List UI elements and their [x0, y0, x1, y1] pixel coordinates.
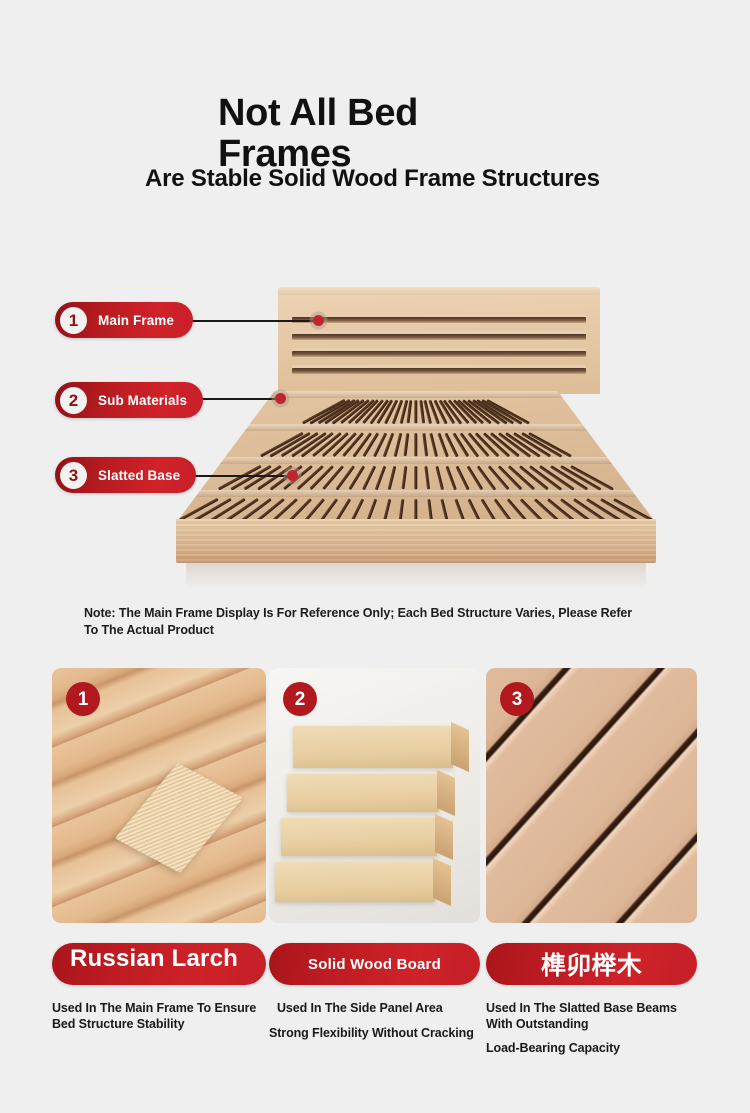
- deck-cross-beam: [176, 457, 656, 464]
- callout-sub-materials[interactable]: 2 Sub Materials: [55, 382, 203, 418]
- headboard-slat: [292, 317, 586, 323]
- material-card: 2 Solid Wood Board Used In The Side Pane…: [269, 668, 480, 1041]
- wood-board: [275, 862, 435, 902]
- material-label-pill[interactable]: 榫卯榉木: [486, 943, 697, 985]
- leader-dot-3: [287, 470, 298, 481]
- leader-dot-1: [313, 315, 324, 326]
- slat-gap: [415, 400, 418, 423]
- headboard-slat: [292, 351, 586, 357]
- bed-illustration: [176, 287, 656, 597]
- callout-label: Sub Materials: [98, 393, 187, 408]
- material-description-secondary: Load-Bearing Capacity: [486, 1041, 697, 1057]
- callout-label: Slatted Base: [98, 468, 180, 483]
- material-cards-section: 1 Russian Larch Used In The Main Frame T…: [0, 668, 750, 1113]
- slat-gap: [218, 465, 262, 490]
- bed-shadow: [186, 563, 646, 589]
- headboard-slat: [292, 368, 586, 374]
- slat-gap: [422, 433, 427, 456]
- material-label-pill[interactable]: Russian Larch: [52, 943, 266, 985]
- callout-number: 1: [60, 307, 87, 334]
- header: Not All Bed Frames Are Stable Solid Wood…: [0, 0, 750, 250]
- material-description: Used In The Side Panel Area: [269, 1001, 480, 1017]
- slat-gap: [430, 433, 438, 457]
- slat-gap: [407, 400, 412, 423]
- material-label-text: Solid Wood Board: [308, 956, 441, 973]
- material-description-secondary: Strong Flexibility Without Cracking: [269, 1026, 480, 1042]
- slat-gap: [446, 466, 457, 490]
- material-card: 1 Russian Larch Used In The Main Frame T…: [52, 668, 266, 1032]
- slat-gap: [415, 433, 418, 456]
- leader-line-1: [191, 320, 319, 322]
- callout-main-frame[interactable]: 1 Main Frame: [55, 302, 193, 338]
- deck-cross-beam: [176, 391, 656, 398]
- material-label-pill[interactable]: Solid Wood Board: [269, 943, 480, 985]
- wood-board: [287, 774, 439, 812]
- callout-label: Main Frame: [98, 313, 174, 328]
- bed-side-rail: [176, 519, 656, 563]
- diagram-note: Note: The Main Frame Display Is For Refe…: [84, 605, 644, 638]
- material-description: Used In The Main Frame To Ensure Bed Str…: [52, 1001, 266, 1032]
- photo-badge: 2: [283, 682, 317, 716]
- slat-gap: [362, 466, 376, 490]
- material-card: 3 榫卯榉木 Used In The Slatted Base Beams Wi…: [486, 668, 697, 1057]
- leader-line-2: [200, 398, 280, 400]
- slat-gap: [388, 466, 396, 490]
- slat-gap: [323, 465, 345, 490]
- material-label-text: 榫卯榉木: [541, 946, 642, 982]
- deck-cross-beam: [176, 490, 656, 497]
- slat-gap: [404, 433, 409, 456]
- slat-deck-surface: [176, 391, 656, 523]
- headboard-slat: [292, 334, 586, 340]
- wood-board: [281, 818, 437, 856]
- material-photo-board: 2: [269, 668, 480, 923]
- page-title-secondary: Are Stable Solid Wood Frame Structures: [145, 166, 625, 192]
- bed-headboard: [278, 287, 600, 394]
- material-photo-larch: 1: [52, 668, 266, 923]
- leader-line-3: [194, 475, 292, 477]
- callout-number: 2: [60, 387, 87, 414]
- slat-gap: [415, 466, 418, 489]
- deck-cross-beam: [176, 424, 656, 431]
- leader-dot-2: [275, 393, 286, 404]
- bed-slatted-deck: [176, 391, 656, 523]
- callout-slatted-base[interactable]: 3 Slatted Base: [55, 457, 196, 493]
- bed-diagram-section: 1 Main Frame 2 Sub Materials 3 Slatted B…: [0, 250, 750, 650]
- material-photo-beech: 3: [486, 668, 697, 923]
- material-label-text: Russian Larch: [70, 945, 210, 972]
- headboard-frame: [278, 287, 600, 394]
- slat-gap: [435, 466, 443, 490]
- material-description: Used In The Slatted Base Beams With Outs…: [486, 1001, 697, 1032]
- photo-badge: 3: [500, 682, 534, 716]
- slat-gap: [425, 466, 430, 489]
- photo-badge: 1: [66, 682, 100, 716]
- slat-gap: [402, 466, 407, 489]
- callout-number: 3: [60, 462, 87, 489]
- slat-gap: [394, 433, 402, 457]
- page-title-primary: Not All Bed Frames: [218, 93, 548, 175]
- slat-gap: [375, 466, 386, 490]
- wood-board: [293, 726, 453, 768]
